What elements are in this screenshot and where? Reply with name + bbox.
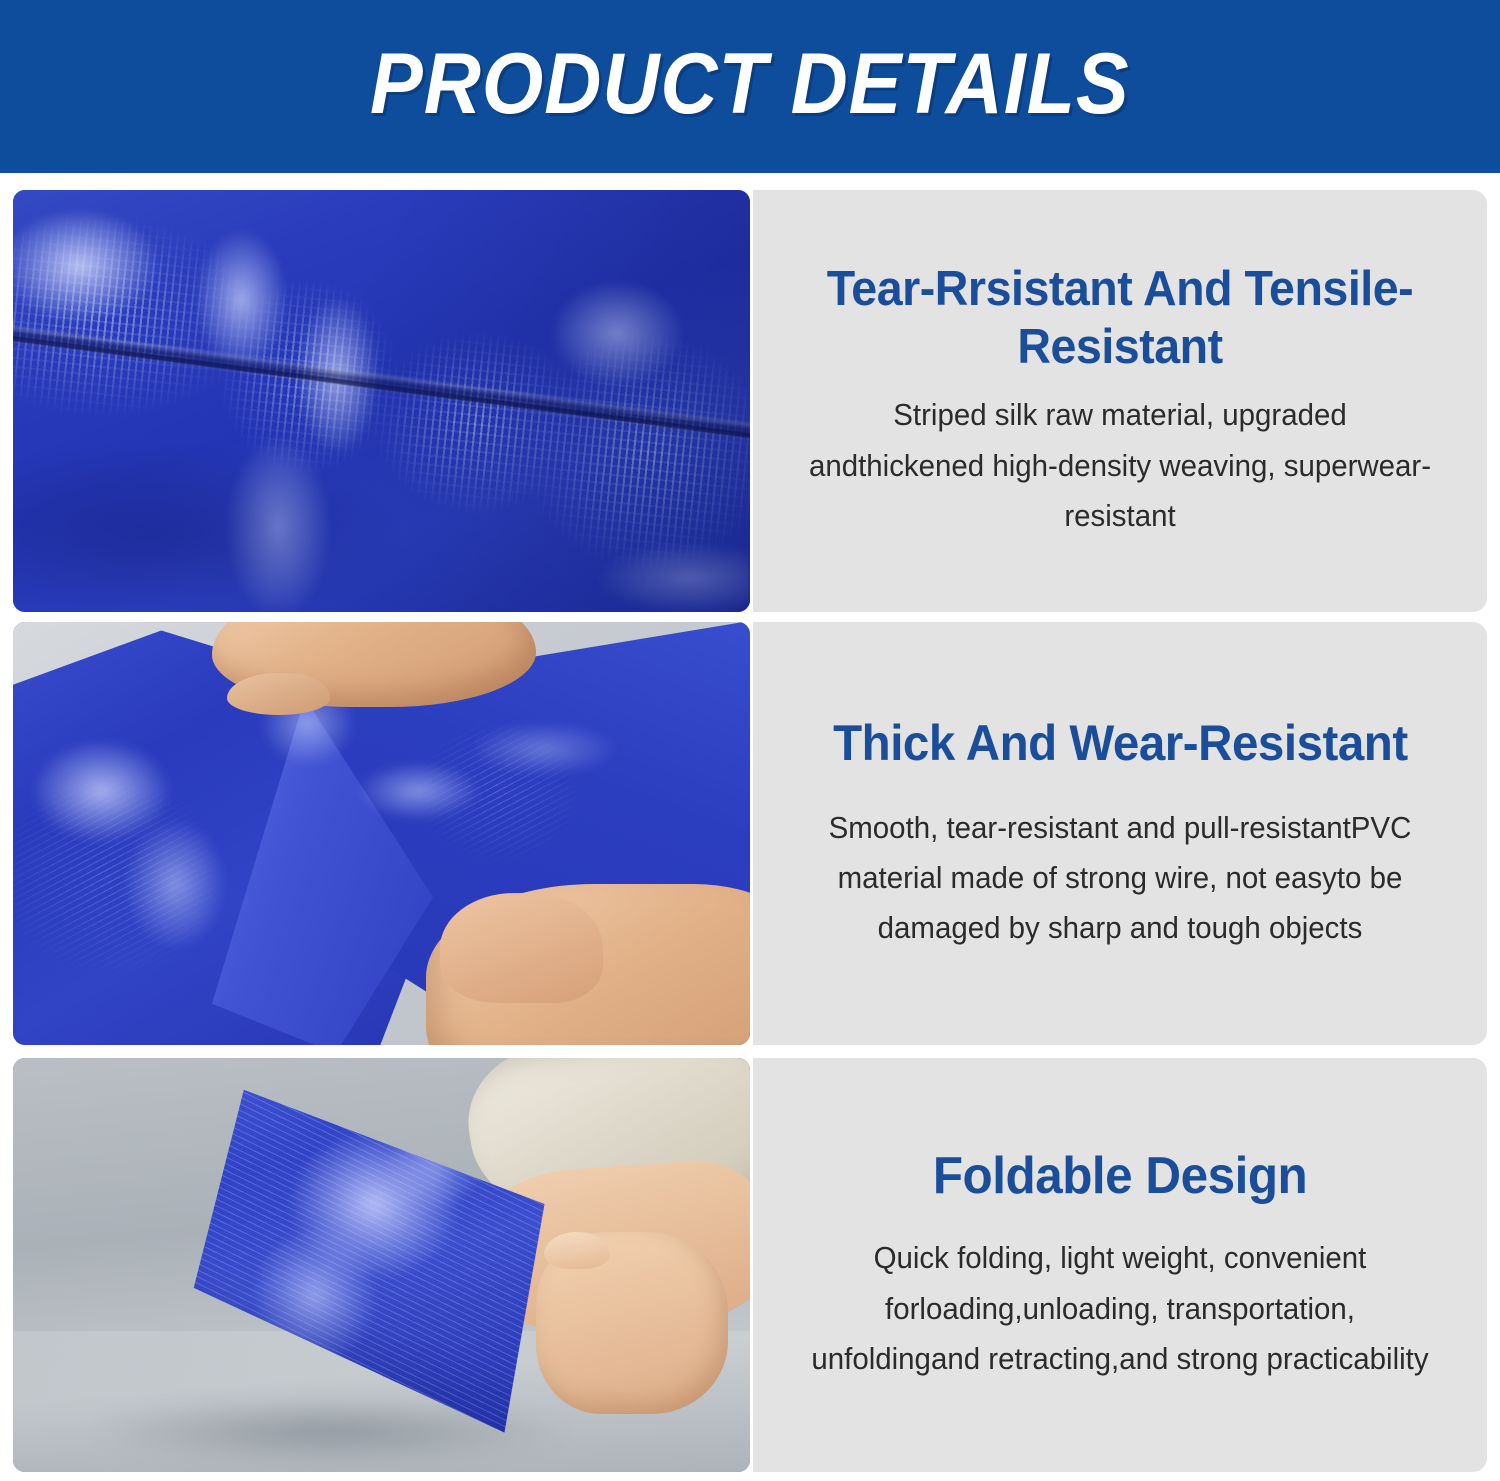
feature-text-panel-2: Thick And Wear-Resistant Smooth, tear-re…	[753, 622, 1487, 1045]
thumb-upper	[227, 673, 330, 715]
person-finger	[544, 1232, 610, 1269]
product-details-page: PRODUCT DETAILS Tear-Rrsistant And Tensi…	[0, 0, 1500, 1481]
page-title: PRODUCT DETAILS	[370, 41, 1130, 133]
feature-title-3: Foldable Design	[933, 1146, 1307, 1207]
feature-text-panel-3: Foldable Design Quick folding, light wei…	[753, 1058, 1487, 1472]
feature-description-2: Smooth, tear-resistant and pull-resistan…	[807, 803, 1434, 954]
feature-text-panel-1: Tear-Rrsistant And Tensile-Resistant Str…	[753, 190, 1487, 612]
feature-row-1: Tear-Rrsistant And Tensile-Resistant Str…	[13, 190, 1487, 612]
feature-row-2: Thick And Wear-Resistant Smooth, tear-re…	[13, 622, 1487, 1045]
feature-image-1	[13, 190, 750, 612]
feature-title-2: Thick And Wear-Resistant	[833, 714, 1408, 773]
tarp-shading	[13, 190, 750, 612]
feature-title-1: Tear-Rrsistant And Tensile-Resistant	[800, 261, 1440, 377]
feature-row-3: Foldable Design Quick folding, light wei…	[13, 1058, 1487, 1472]
page-header-banner: PRODUCT DETAILS	[0, 0, 1500, 173]
feature-image-3	[13, 1058, 750, 1472]
knuckles	[440, 893, 602, 1003]
feature-description-1: Striped silk raw material, upgraded andt…	[807, 390, 1434, 541]
feature-description-3: Quick folding, light weight, convenient …	[807, 1233, 1434, 1384]
feature-image-2	[13, 622, 750, 1045]
